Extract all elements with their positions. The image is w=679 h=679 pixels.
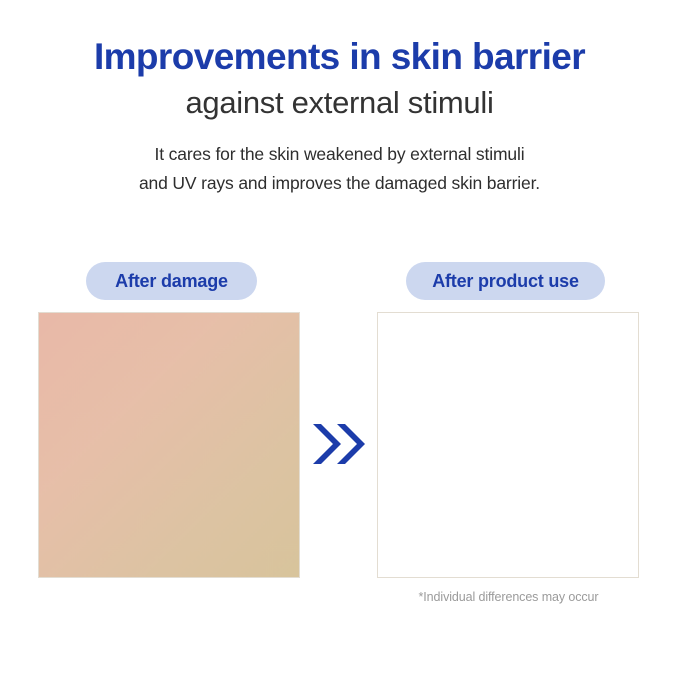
photo-after-damage: [38, 312, 300, 578]
skin-barrier-infographic: Improvements in skin barrier against ext…: [0, 0, 679, 679]
page-title: Improvements in skin barrier against ext…: [0, 34, 679, 123]
double-chevron-right-icon: [311, 421, 367, 467]
disclaimer-note: *Individual differences may occur: [377, 590, 640, 604]
description-text: It cares for the skin weakened by extern…: [0, 140, 679, 198]
badge-after-product-use: After product use: [406, 262, 605, 300]
badge-after-damage-label: After damage: [115, 271, 228, 292]
badge-after-product-use-label: After product use: [432, 271, 579, 292]
description-line-1: It cares for the skin weakened by extern…: [0, 140, 679, 169]
skin-before-image: [39, 313, 299, 577]
description-line-2: and UV rays and improves the damaged ski…: [0, 169, 679, 198]
skin-after-image: [378, 313, 638, 577]
badge-after-damage: After damage: [86, 262, 257, 300]
headline-secondary: against external stimuli: [0, 83, 679, 123]
headline-primary: Improvements in skin barrier: [0, 34, 679, 80]
photo-after-product-use: [377, 312, 639, 578]
